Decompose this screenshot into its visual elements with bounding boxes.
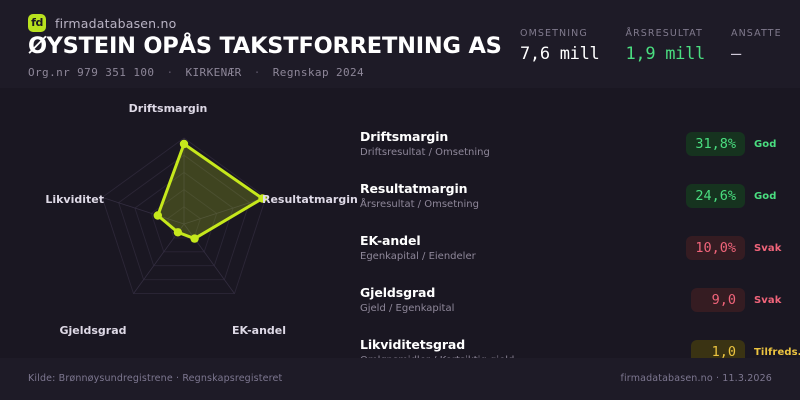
metric-rating-label: God	[754, 139, 800, 150]
report-card: fd firmadatabasen.no ØYSTEIN OPÅS TAKSTF…	[0, 0, 800, 400]
kpi-omsetning-value: 7,6 mill	[520, 44, 599, 64]
metric-row[interactable]: EK-andel Egenkapital / Eiendeler 10,0% S…	[360, 228, 800, 268]
kpi-ansatte: ANSATTE –	[731, 28, 782, 64]
org-number: Org.nr 979 351 100	[28, 66, 154, 79]
company-location: KIRKENÆR	[186, 66, 242, 79]
metric-rating-label: Svak	[754, 243, 800, 254]
kpi-ansatte-label: ANSATTE	[731, 28, 782, 39]
metric-value-badge: 24,6%	[686, 184, 745, 208]
metric-right: 24,6% God	[686, 184, 800, 208]
radar-axis-label: Gjeldsgrad	[59, 324, 126, 337]
metric-row[interactable]: Resultatmargin Årsresultat / Omsetning 2…	[360, 176, 800, 216]
brand-name: firmadatabasen.no	[55, 16, 176, 31]
metric-row[interactable]: Gjeldsgrad Gjeld / Egenkapital 9,0 Svak	[360, 280, 800, 320]
footer: Kilde: Brønnøysundregistrene · Regnskaps…	[0, 358, 800, 400]
kpi-arsresultat: ÅRSRESULTAT 1,9 mill	[625, 28, 704, 64]
radar-axis-label: Driftsmargin	[129, 102, 208, 115]
metric-row[interactable]: Driftsmargin Driftsresultat / Omsetning …	[360, 124, 800, 164]
kpi-arsresultat-value: 1,9 mill	[625, 44, 704, 64]
meta-separator-2: ·	[249, 66, 266, 79]
metrics-list: Driftsmargin Driftsresultat / Omsetning …	[360, 124, 800, 372]
footer-source: Kilde: Brønnøysundregistrene · Regnskaps…	[28, 373, 282, 384]
kpi-omsetning-label: OMSETNING	[520, 28, 599, 39]
radar-chart: DriftsmarginResultatmarginEK-andelGjelds…	[0, 88, 355, 358]
metric-right: 9,0 Svak	[691, 288, 800, 312]
radar-series-area	[158, 144, 263, 239]
kpi-summary: OMSETNING 7,6 mill ÅRSRESULTAT 1,9 mill …	[520, 28, 782, 64]
company-meta: Org.nr 979 351 100 · KIRKENÆR · Regnskap…	[28, 66, 364, 79]
main-content: DriftsmarginResultatmarginEK-andelGjelds…	[0, 88, 800, 358]
metric-right: 10,0% Svak	[686, 236, 800, 260]
radar-axis-label: EK-andel	[232, 324, 286, 337]
brand-logo[interactable]: fd firmadatabasen.no	[28, 14, 176, 32]
metric-right: 31,8% God	[686, 132, 800, 156]
kpi-omsetning: OMSETNING 7,6 mill	[520, 28, 599, 64]
radar-chart-svg	[0, 88, 355, 358]
footer-attribution: firmadatabasen.no · 11.3.2026	[621, 373, 772, 384]
metric-value-badge: 10,0%	[686, 236, 745, 260]
meta-separator-1: ·	[161, 66, 178, 79]
metric-value-badge: 9,0	[691, 288, 745, 312]
header: fd firmadatabasen.no ØYSTEIN OPÅS TAKSTF…	[0, 0, 800, 88]
radar-axis-label: Likviditet	[45, 193, 104, 206]
metric-rating-label: Svak	[754, 295, 800, 306]
page-title: ØYSTEIN OPÅS TAKSTFORRETNING AS	[28, 33, 502, 59]
metric-rating-label: God	[754, 191, 800, 202]
kpi-ansatte-value: –	[731, 44, 782, 64]
radar-axis-label: Resultatmargin	[262, 193, 358, 206]
accounting-year: Regnskap 2024	[273, 66, 364, 79]
metric-rating-label: Tilfreds.	[754, 347, 800, 358]
kpi-arsresultat-label: ÅRSRESULTAT	[625, 28, 704, 39]
firmadatabasen-logo-icon: fd	[28, 14, 46, 32]
metric-value-badge: 31,8%	[686, 132, 745, 156]
